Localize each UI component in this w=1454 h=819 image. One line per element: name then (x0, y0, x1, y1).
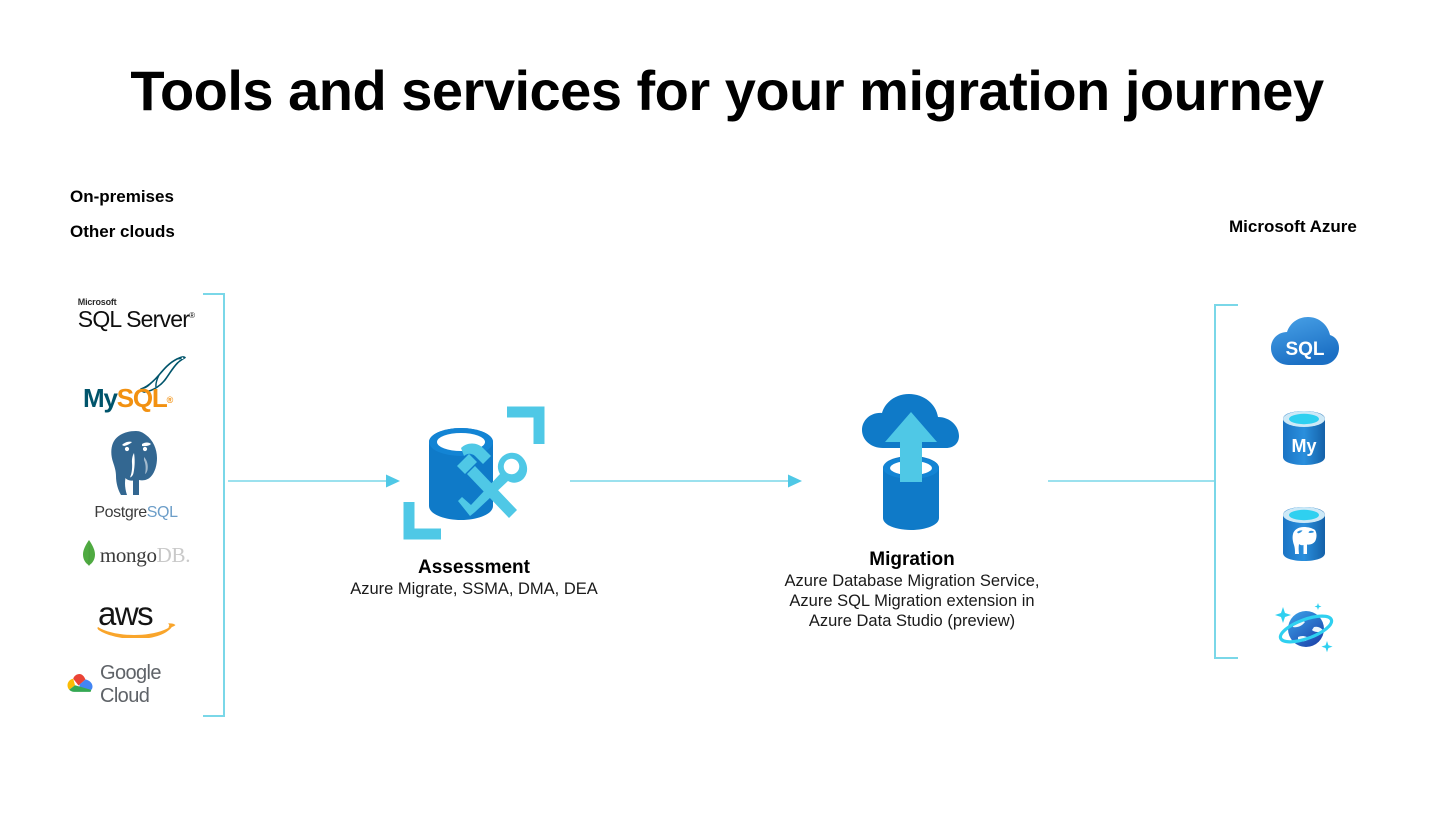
azure-database-for-postgresql-icon (1258, 502, 1350, 566)
stage-assessment-subtitle: Azure Migrate, SSMA, DMA, DEA (344, 579, 604, 599)
postgresql-wordmark: PostgreSQL (81, 505, 191, 521)
azure-mysql-label: My (1291, 436, 1316, 456)
target-group-bracket (1214, 304, 1238, 659)
source-group-label-line2: Other clouds (70, 214, 175, 249)
page-title: Tools and services for your migration jo… (0, 58, 1454, 123)
aws-swoosh-icon (96, 622, 176, 643)
sql-server-wordmark: SQL Server® (78, 308, 194, 331)
slide-canvas: Tools and services for your migration jo… (0, 0, 1454, 819)
stage-migration: Migration Azure Database Migration Servi… (762, 390, 1062, 631)
sql-server-trademark-icon: ® (189, 311, 194, 320)
azure-database-for-mysql-icon: My (1258, 406, 1350, 470)
postgresql-elephant-icon (81, 429, 191, 499)
azure-sql-label: SQL (1285, 339, 1324, 360)
stage-migration-subtitle: Azure Database Migration Service, Azure … (762, 571, 1062, 631)
stage-migration-title: Migration (762, 549, 1062, 571)
database-to-cloud-upload-icon (762, 390, 1062, 545)
source-group-label: On-premises Other clouds (70, 179, 175, 249)
logo-postgresql: PostgreSQL (66, 430, 206, 520)
mongodb-wordmark: mongoDB. (100, 543, 190, 568)
logo-microsoft-sql-server: Microsoft SQL Server® (66, 292, 206, 336)
mysql-wordmark: MySQL® (83, 385, 172, 411)
logo-google-cloud: Google Cloud (66, 670, 206, 700)
mongodb-leaf-icon (82, 540, 96, 571)
connector-migration-to-azure (1048, 470, 1216, 492)
logo-mongodb: mongoDB. (66, 540, 206, 570)
database-tools-icon (344, 398, 604, 553)
target-group-label: Microsoft Azure (1229, 217, 1357, 237)
logo-mysql: MySQL® (66, 352, 206, 412)
azure-sql-icon: SQL (1258, 310, 1350, 380)
azure-cosmos-db-icon (1258, 596, 1350, 660)
stage-assessment: Assessment Azure Migrate, SSMA, DMA, DEA (344, 398, 604, 599)
stage-assessment-title: Assessment (344, 557, 604, 579)
source-group-bracket (203, 293, 225, 717)
mysql-trademark-icon: ® (167, 395, 172, 405)
google-cloud-icon (66, 672, 94, 699)
google-cloud-wordmark: Google Cloud (100, 662, 206, 708)
logo-aws: aws (66, 600, 206, 644)
source-group-label-line1: On-premises (70, 179, 175, 214)
